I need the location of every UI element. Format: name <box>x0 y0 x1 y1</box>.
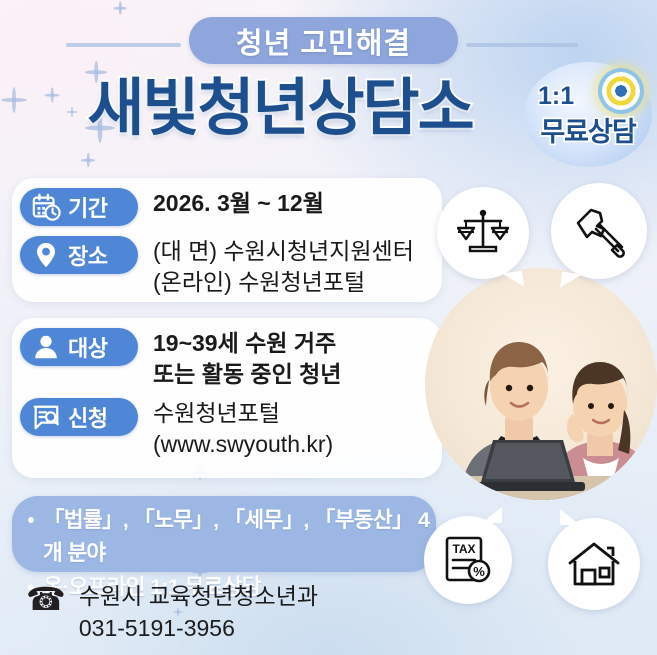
info-row-target: 대상 19~39세 수원 거주 또는 활동 중인 청년 <box>20 328 341 389</box>
info-row-apply: 신청 수원청년포털 (www.swyouth.kr) <box>20 398 333 459</box>
topic-bubble-law <box>437 187 529 279</box>
tax-document-icon: TAX % <box>442 534 494 586</box>
page-title: 새빛청년상담소 <box>0 78 560 140</box>
header-pill: 청년 고민해결 <box>189 17 458 64</box>
value-apply: 수원청년포털 (www.swyouth.kr) <box>153 398 333 459</box>
label-pill-target: 대상 <box>20 328 138 366</box>
label-location: 장소 <box>68 239 107 271</box>
label-pill-period: 기간 <box>20 188 138 226</box>
counseling-illustration <box>425 268 657 520</box>
label-pill-location: 장소 <box>20 236 138 274</box>
label-pill-apply: 신청 <box>20 398 138 436</box>
topic-bubble-tax: TAX % <box>424 516 512 604</box>
info-row-location: 장소 (대 면) 수원시청년지원센터 (온라인) 수원청년포털 <box>20 236 414 297</box>
highlights-card: 「법률」, 「노무」, 「세무」, 「부동산」 4개 분야 온·오프라인 1:1… <box>12 496 436 572</box>
svg-text:TAX: TAX <box>452 542 475 556</box>
decor-line-left <box>66 43 181 47</box>
topic-bubble-realestate <box>548 518 640 610</box>
person-icon <box>31 332 61 362</box>
label-apply: 신청 <box>68 401 107 433</box>
footer-contact-text: 수원시 교육청년청소년과 031-5191-3956 <box>79 580 318 644</box>
value-period: 2026. 3월 ~ 12월 <box>153 188 324 219</box>
footer-contact: ☎ 수원시 교육청년청소년과 031-5191-3956 <box>26 580 318 644</box>
form-search-icon <box>31 402 61 432</box>
header-pill-label: 청년 고민해결 <box>236 20 411 62</box>
label-period: 기간 <box>68 191 107 223</box>
target-icon <box>598 68 644 114</box>
value-location: (대 면) 수원시청년지원센터 (온라인) 수원청년포털 <box>153 236 414 297</box>
bubble-tail <box>560 272 582 291</box>
scales-of-justice-icon <box>457 207 509 259</box>
bubble-tail <box>482 507 502 523</box>
two-women-at-laptop-icon <box>425 268 657 500</box>
free-consult-badge: 1:1 무료상담 <box>524 62 652 167</box>
svg-text:%: % <box>473 564 485 579</box>
bubble-tail <box>560 509 580 525</box>
info-row-period: 기간 2026. 3월 ~ 12월 <box>20 188 324 226</box>
telephone-icon: ☎ <box>26 583 66 615</box>
gavel-hammer-icon <box>572 204 626 258</box>
label-target: 대상 <box>68 331 107 363</box>
badge-ratio: 1:1 <box>538 82 574 111</box>
bubble-tail <box>502 271 524 290</box>
illustration-circle <box>425 268 657 500</box>
badge-free-label: 무료상담 <box>527 110 649 149</box>
value-target: 19~39세 수원 거주 또는 활동 중인 청년 <box>153 328 341 389</box>
map-pin-icon <box>31 240 61 270</box>
house-icon <box>567 537 621 591</box>
list-item: 「법률」, 「노무」, 「세무」, 「부동산」 4개 분야 <box>28 504 436 571</box>
poster-root: 청년 고민해결 새빛청년상담소 1:1 무료상담 기간 2026. 3월 ~ 1… <box>0 0 657 655</box>
calendar-clock-icon <box>31 192 61 222</box>
decor-line-right <box>466 43 578 47</box>
topic-bubble-labor <box>551 183 647 279</box>
